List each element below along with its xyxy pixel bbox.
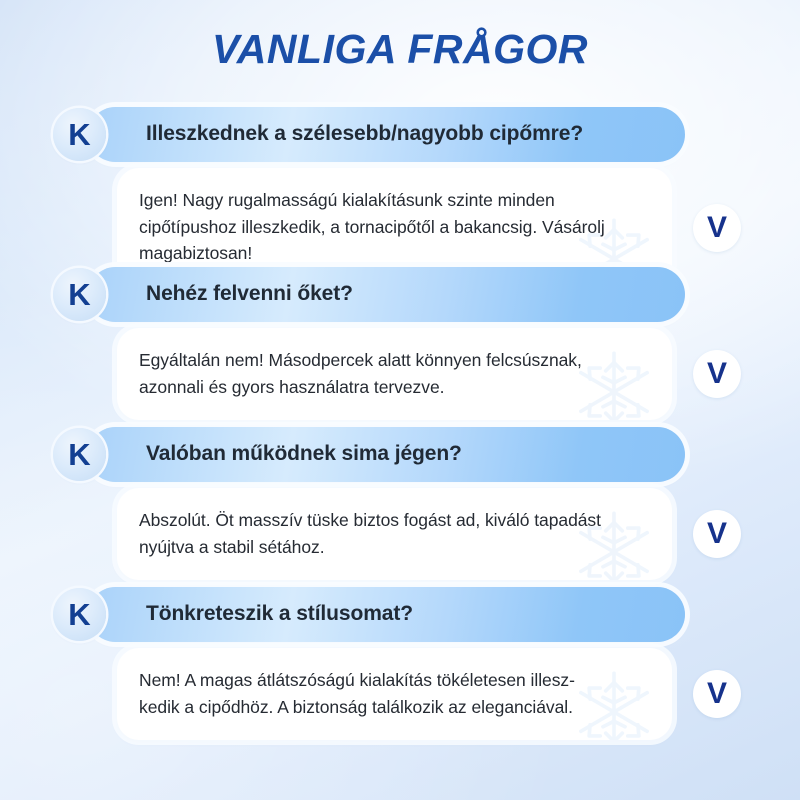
- answer-badge-1: V: [693, 204, 741, 252]
- faq-question-row: K Nehéz felvenni őket?: [0, 263, 800, 325]
- question-text-1: Illeszkednek a szélesebb/nagyobb cipőmre…: [146, 122, 583, 146]
- answer-bubble-4: Nem! A magas átlátszóságú kialakítás tök…: [117, 648, 672, 740]
- question-bubble-3[interactable]: Valóban működnek sima jégen?: [88, 427, 685, 482]
- faq-item-4: K Tönkreteszik a stílusomat? Nem! A maga…: [0, 583, 800, 743]
- question-bubble-2[interactable]: Nehéz felvenni őket?: [88, 267, 685, 322]
- answer-badge-4: V: [693, 670, 741, 718]
- answer-text-4: Nem! A magas átlátszóságú kialakítás tök…: [139, 670, 575, 717]
- answer-badge-2: V: [693, 350, 741, 398]
- page-title: VANLIGA FRÅGOR: [0, 26, 800, 73]
- faq-question-row: K Tönkreteszik a stílusomat?: [0, 583, 800, 645]
- answer-text-1: Igen! Nagy rugalmasságú kialakításunk sz…: [139, 190, 605, 263]
- answer-badge-3: V: [693, 510, 741, 558]
- question-text-4: Tönkreteszik a stílusomat?: [146, 602, 413, 626]
- question-badge-4: K: [53, 588, 106, 641]
- faq-item-3: K Valóban működnek sima jégen? Abszolút.…: [0, 423, 800, 583]
- question-badge-2: K: [53, 268, 106, 321]
- snowflake-icon: [568, 666, 660, 740]
- question-bubble-1[interactable]: Illeszkednek a szélesebb/nagyobb cipőmre…: [88, 107, 685, 162]
- faq-page: VANLIGA FRÅGOR K Illeszkednek a széleseb…: [0, 0, 800, 800]
- faq-item-2: K Nehéz felvenni őket? Egyáltalán nem! M…: [0, 263, 800, 423]
- faq-item-1: K Illeszkednek a szélesebb/nagyobb cipőm…: [0, 103, 800, 263]
- faq-question-row: K Valóban működnek sima jégen?: [0, 423, 800, 485]
- question-text-3: Valóban működnek sima jégen?: [146, 442, 462, 466]
- question-badge-3: K: [53, 428, 106, 481]
- answer-bubble-3: Abszolút. Öt masszív tüske biztos fogást…: [117, 488, 672, 580]
- faq-question-row: K Illeszkednek a szélesebb/nagyobb cipőm…: [0, 103, 800, 165]
- faq-list: K Illeszkednek a szélesebb/nagyobb cipőm…: [0, 103, 800, 743]
- question-bubble-4[interactable]: Tönkreteszik a stílusomat?: [88, 587, 685, 642]
- question-badge-1: K: [53, 108, 106, 161]
- answer-bubble-2: Egyáltalán nem! Másodpercek alatt könnye…: [117, 328, 672, 420]
- answer-text-2: Egyáltalán nem! Másodpercek alatt könnye…: [139, 350, 582, 397]
- answer-text-3: Abszolút. Öt masszív tüske biztos fogást…: [139, 510, 601, 557]
- question-text-2: Nehéz felvenni őket?: [146, 282, 353, 306]
